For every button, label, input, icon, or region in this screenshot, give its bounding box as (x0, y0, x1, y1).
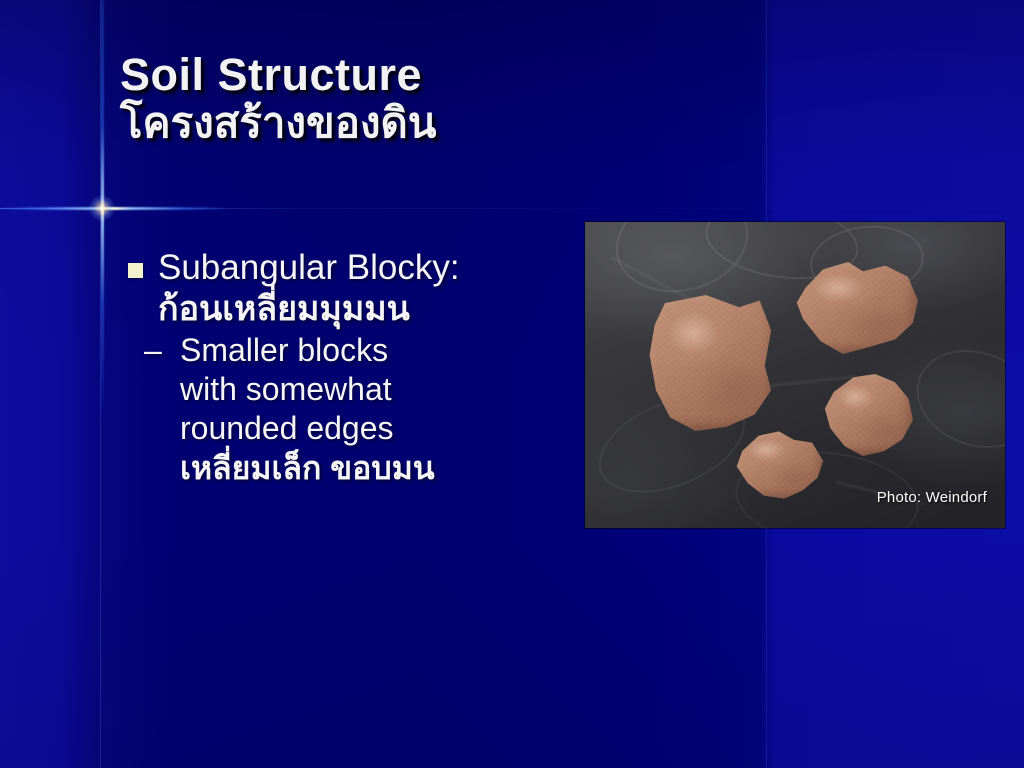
bullet-level2-line1: Smaller blocks (180, 331, 592, 370)
slide-canvas: Soil Structure โครงสร้างของดิน Subangula… (0, 0, 1024, 768)
bullet-level2-thai: เหลี่ยมเล็ก ขอบมน (180, 449, 592, 487)
soil-ped-photo: Photo: Weindorf (585, 222, 1005, 528)
photo-credit-label: Photo: Weindorf (877, 489, 987, 506)
bullet-level1: Subangular Blocky: ก้อนเหลี่ยมมุมมน (122, 248, 592, 329)
background-seam-horizontal (0, 208, 1024, 209)
bullet-level2-line2: with somewhat (180, 370, 592, 409)
bullet-level2: – Smaller blocks with somewhat rounded e… (122, 331, 592, 487)
title-thai: โครงสร้างของดิน (120, 99, 660, 146)
bullet-level2-line3: rounded edges (180, 409, 592, 448)
square-bullet-icon (128, 263, 143, 278)
background-seam-left (100, 0, 101, 768)
slide-body: Subangular Blocky: ก้อนเหลี่ยมมุมมน – Sm… (122, 248, 592, 487)
slate-swirl (903, 334, 1005, 465)
bullet-level1-thai: ก้อนเหลี่ยมมุมมน (158, 289, 592, 329)
title-english: Soil Structure (120, 52, 660, 98)
dash-bullet-icon: – (144, 331, 162, 369)
slide-title: Soil Structure โครงสร้างของดิน (120, 52, 660, 146)
bullet-level1-english: Subangular Blocky: (158, 248, 592, 289)
